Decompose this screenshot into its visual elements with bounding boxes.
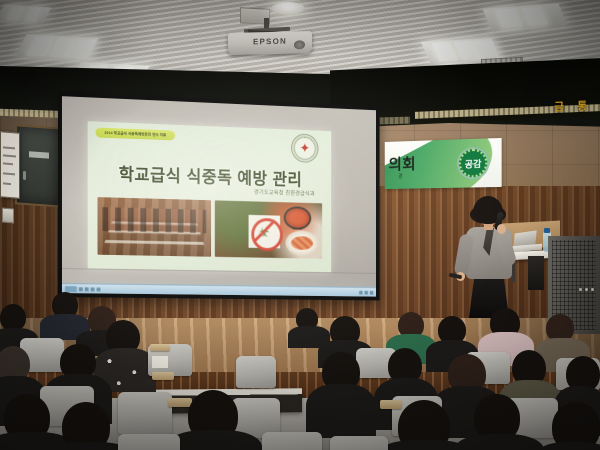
wall-plate bbox=[2, 207, 14, 223]
audience-shoulders bbox=[534, 442, 600, 450]
auditorium-chair[interactable] bbox=[118, 392, 172, 434]
projection-screen: 2014 학교급식 식중독예방관리 연수 자료 ✦ 학교급식 식중독 예방 관리… bbox=[62, 96, 376, 296]
wall-gold-text: 금 통 bbox=[554, 97, 592, 114]
wall-poster bbox=[0, 131, 20, 199]
audience-head bbox=[0, 304, 26, 331]
chair-arm-desk[interactable] bbox=[152, 372, 174, 380]
audience-shoulders bbox=[288, 326, 330, 348]
auditorium-chair[interactable] bbox=[262, 432, 322, 450]
slide-subtitle: 경기도교육청 친환경급식과 bbox=[254, 188, 315, 197]
ceiling-projector: EPSON bbox=[228, 31, 312, 55]
projection-screen-frame: 2014 학교급식 식중독예방관리 연수 자료 ✦ 학교급식 식중독 예방 관리… bbox=[58, 92, 380, 300]
audience-shoulders bbox=[306, 384, 376, 438]
chalkboard bbox=[15, 124, 64, 207]
event-banner: 의회 경 공감 bbox=[385, 138, 502, 189]
chair-arm-desk[interactable] bbox=[168, 398, 192, 407]
slide-tag-text: 2014 학교급식 식중독예방관리 연수 자료 bbox=[104, 130, 166, 137]
auditorium-chair[interactable] bbox=[118, 434, 180, 450]
food-safety-logo-icon: ✦ bbox=[291, 133, 318, 163]
auditorium-chair[interactable] bbox=[330, 436, 388, 450]
chair-arm-desk[interactable] bbox=[380, 400, 402, 409]
ceiling-lamp bbox=[271, 2, 305, 15]
banner-subtitle: 경 bbox=[398, 173, 402, 180]
chalkboard-handle[interactable] bbox=[23, 171, 26, 180]
slide-header-tag: 2014 학교급식 식중독예방관리 연수 자료 bbox=[96, 127, 175, 140]
presentation-slide: 2014 학교급식 식중독예방관리 연수 자료 ✦ 학교급식 식중독 예방 관리… bbox=[88, 121, 331, 272]
banner-emblem: 공감 bbox=[457, 146, 489, 179]
no-germs-symbol-icon: ☣ bbox=[249, 215, 280, 249]
bottle-cap-icon bbox=[544, 228, 550, 233]
audience-shoulders bbox=[166, 430, 262, 450]
students-eating-lunch-photo bbox=[98, 197, 212, 257]
lecture-hall-photo: EPSON 금 통 2014 학교급식 식중독예방관리 연수 자료 bbox=[0, 0, 600, 450]
projector-lens-icon bbox=[294, 40, 305, 49]
auditorium-chair[interactable] bbox=[236, 356, 276, 388]
seated-audience bbox=[0, 286, 600, 450]
chair-arm-desk[interactable] bbox=[150, 344, 170, 351]
slide-title: 학교급식 식중독 예방 관리 bbox=[88, 159, 331, 191]
banner-title: 의회 bbox=[389, 153, 417, 174]
chalkboard-label bbox=[29, 151, 49, 158]
slide-photo-row: ☣ bbox=[98, 197, 323, 259]
handout-paper[interactable] bbox=[152, 356, 168, 368]
food-dishes-photo: ☣ bbox=[215, 200, 322, 258]
floor-speaker bbox=[528, 256, 544, 290]
